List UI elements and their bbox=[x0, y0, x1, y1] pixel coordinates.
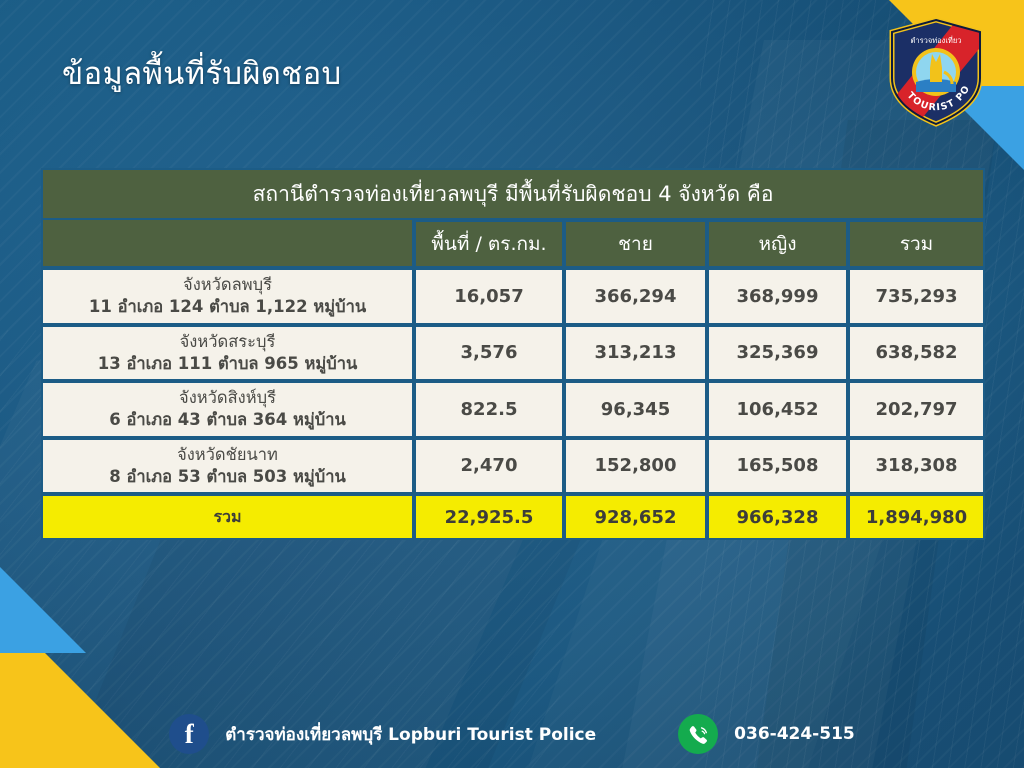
footer-facebook[interactable]: f ตำรวจท่องเที่ยวลพบุรี Lopburi Tourist … bbox=[169, 714, 596, 754]
cell-total: 735,293 bbox=[848, 268, 985, 325]
province-detail: 8 อำเภอ 53 ตำบล 503 หมู่บ้าน bbox=[49, 466, 406, 488]
cell-province: จังหวัดลพบุรี 11 อำเภอ 124 ตำบล 1,122 หม… bbox=[41, 268, 414, 325]
cell-area: 822.5 bbox=[414, 381, 564, 438]
phone-label: 036-424-515 bbox=[734, 724, 855, 744]
column-header-area: พื้นที่ / ตร.กม. bbox=[414, 220, 564, 268]
cell-province: จังหวัดชัยนาท 8 อำเภอ 53 ตำบล 503 หมู่บ้… bbox=[41, 438, 414, 495]
table-row: จังหวัดชัยนาท 8 อำเภอ 53 ตำบล 503 หมู่บ้… bbox=[41, 438, 985, 495]
province-name: จังหวัดลพบุรี bbox=[49, 274, 406, 296]
total-label: รวม bbox=[41, 494, 414, 540]
table-header-title-row: สถานีตำรวจท่องเที่ยวลพบุรี มีพื้นที่รับผ… bbox=[41, 168, 985, 220]
province-name: จังหวัดสระบุรี bbox=[49, 331, 406, 353]
cell-female: 368,999 bbox=[707, 268, 848, 325]
cell-total: 318,308 bbox=[848, 438, 985, 495]
province-detail: 6 อำเภอ 43 ตำบล 364 หมู่บ้าน bbox=[49, 409, 406, 431]
cell-male: 152,800 bbox=[564, 438, 707, 495]
facebook-icon[interactable]: f bbox=[169, 714, 209, 754]
column-header-total: รวม bbox=[848, 220, 985, 268]
table-row: จังหวัดสระบุรี 13 อำเภอ 111 ตำบล 965 หมู… bbox=[41, 325, 985, 382]
table-row: จังหวัดลพบุรี 11 อำเภอ 124 ตำบล 1,122 หม… bbox=[41, 268, 985, 325]
cell-female: 106,452 bbox=[707, 381, 848, 438]
table-total-row: รวม 22,925.5 928,652 966,328 1,894,980 bbox=[41, 494, 985, 540]
cell-province: จังหวัดสิงห์บุรี 6 อำเภอ 43 ตำบล 364 หมู… bbox=[41, 381, 414, 438]
province-name: จังหวัดชัยนาท bbox=[49, 444, 406, 466]
column-header-province bbox=[41, 220, 414, 268]
total-total: 1,894,980 bbox=[848, 494, 985, 540]
total-area: 22,925.5 bbox=[414, 494, 564, 540]
column-header-female: หญิง bbox=[707, 220, 848, 268]
cell-province: จังหวัดสระบุรี 13 อำเภอ 111 ตำบล 965 หมู… bbox=[41, 325, 414, 382]
slide-canvas: ข้อมูลพื้นที่รับผิดชอบ ตำรวจท่องเที่ยว bbox=[0, 0, 1024, 768]
cell-area: 2,470 bbox=[414, 438, 564, 495]
cell-area: 3,576 bbox=[414, 325, 564, 382]
footer-phone[interactable]: 036-424-515 bbox=[678, 714, 855, 754]
page-title: ข้อมูลพื้นที่รับผิดชอบ bbox=[62, 48, 341, 98]
table-column-header-row: พื้นที่ / ตร.กม. ชาย หญิง รวม bbox=[41, 220, 985, 268]
table-header-title: สถานีตำรวจท่องเที่ยวลพบุรี มีพื้นที่รับผ… bbox=[41, 168, 985, 220]
cell-male: 313,213 bbox=[564, 325, 707, 382]
province-detail: 11 อำเภอ 124 ตำบล 1,122 หมู่บ้าน bbox=[49, 296, 406, 318]
cell-area: 16,057 bbox=[414, 268, 564, 325]
table: สถานีตำรวจท่องเที่ยวลพบุรี มีพื้นที่รับผ… bbox=[41, 168, 985, 540]
corner-ribbon-bottom-left-blue bbox=[0, 567, 86, 653]
cell-total: 202,797 bbox=[848, 381, 985, 438]
total-female: 966,328 bbox=[707, 494, 848, 540]
total-male: 928,652 bbox=[564, 494, 707, 540]
cell-female: 325,369 bbox=[707, 325, 848, 382]
cell-female: 165,508 bbox=[707, 438, 848, 495]
cell-male: 366,294 bbox=[564, 268, 707, 325]
cell-male: 96,345 bbox=[564, 381, 707, 438]
responsibility-area-table: สถานีตำรวจท่องเที่ยวลพบุรี มีพื้นที่รับผ… bbox=[41, 168, 985, 540]
province-name: จังหวัดสิงห์บุรี bbox=[49, 387, 406, 409]
province-detail: 13 อำเภอ 111 ตำบล 965 หมู่บ้าน bbox=[49, 353, 406, 375]
table-row: จังหวัดสิงห์บุรี 6 อำเภอ 43 ตำบล 364 หมู… bbox=[41, 381, 985, 438]
column-header-male: ชาย bbox=[564, 220, 707, 268]
phone-icon[interactable] bbox=[678, 714, 718, 754]
svg-text:ตำรวจท่องเที่ยว: ตำรวจท่องเที่ยว bbox=[911, 35, 962, 45]
tourist-police-badge-icon: ตำรวจท่องเที่ยว TOURIST POLICE bbox=[884, 16, 988, 128]
cell-total: 638,582 bbox=[848, 325, 985, 382]
facebook-label: ตำรวจท่องเที่ยวลพบุรี Lopburi Tourist Po… bbox=[225, 721, 596, 748]
footer-contact-bar: f ตำรวจท่องเที่ยวลพบุรี Lopburi Tourist … bbox=[0, 703, 1024, 765]
